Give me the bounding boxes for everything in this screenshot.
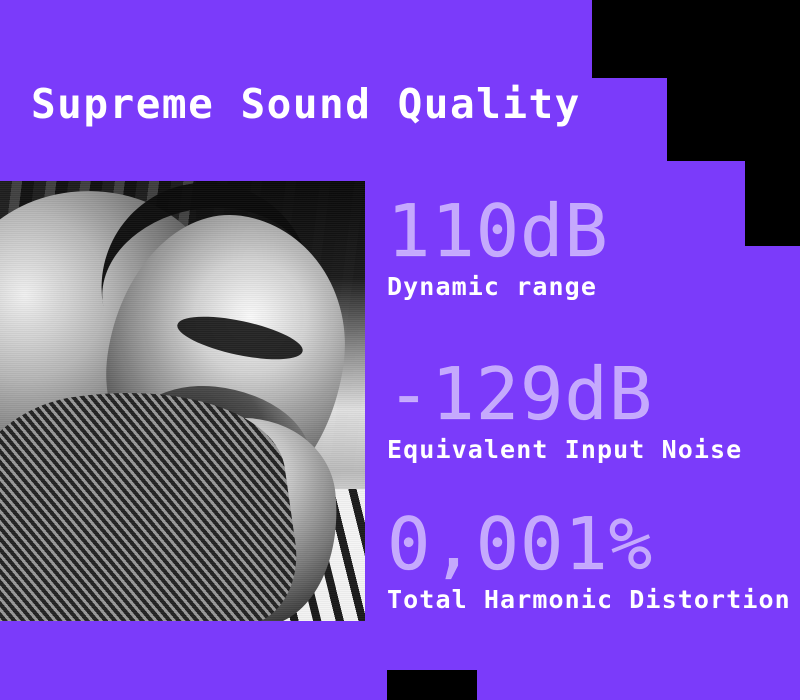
black-step-top-right-shape bbox=[592, 0, 800, 78]
sound-quality-poster: Supreme Sound Quality 110dB Dynamic rang… bbox=[0, 0, 800, 700]
stat-value: 110dB bbox=[387, 192, 609, 270]
stat-value: -129dB bbox=[387, 355, 742, 433]
stat-label: Dynamic range bbox=[387, 272, 609, 302]
stat-total-harmonic-distortion: 0,001% Total Harmonic Distortion bbox=[387, 505, 791, 615]
stat-label: Equivalent Input Noise bbox=[387, 435, 742, 465]
black-step-middle-right-shape bbox=[667, 78, 800, 161]
stat-value: 0,001% bbox=[387, 505, 791, 583]
page-title: Supreme Sound Quality bbox=[31, 80, 581, 128]
stat-equivalent-input-noise: -129dB Equivalent Input Noise bbox=[387, 355, 742, 465]
portrait-photo bbox=[0, 181, 365, 621]
black-block-bottom-center-shape bbox=[387, 670, 477, 700]
black-step-lower-right-shape bbox=[745, 161, 800, 246]
stat-dynamic-range: 110dB Dynamic range bbox=[387, 192, 609, 302]
stat-label: Total Harmonic Distortion bbox=[387, 585, 791, 615]
